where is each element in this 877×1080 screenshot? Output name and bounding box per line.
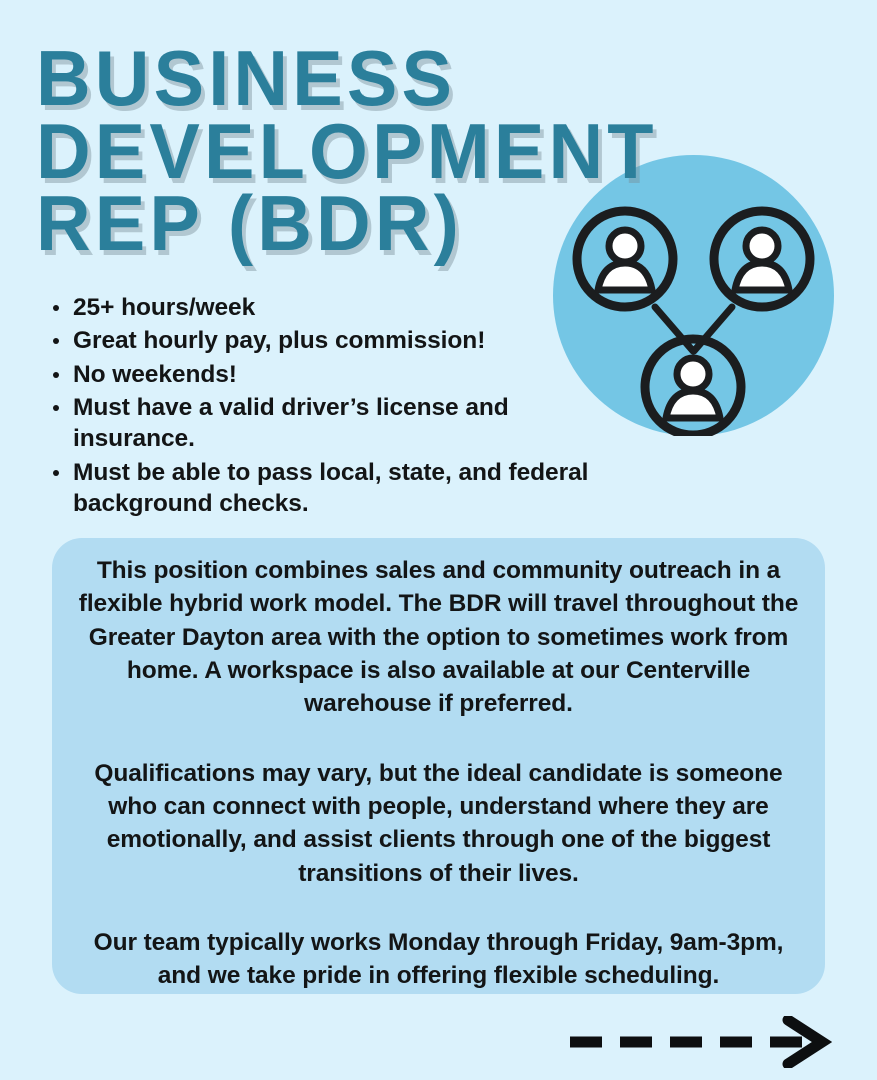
title-line-1: Business: [36, 42, 715, 115]
job-posting-poster: Business Development Rep (BDR) 25+ hours…: [0, 0, 877, 1080]
job-highlights-list: 25+ hours/week Great hourly pay, plus co…: [47, 292, 627, 522]
list-item: 25+ hours/week: [47, 292, 627, 323]
description-paragraph-1: This position combines sales and communi…: [74, 554, 803, 721]
title-line-2: Development: [36, 115, 715, 188]
list-item: Must have a valid driver’s license and i…: [47, 392, 627, 455]
list-item: Must be able to pass local, state, and f…: [47, 457, 627, 520]
dashed-arrow-right-icon: [566, 1016, 832, 1068]
list-item: Great hourly pay, plus commission!: [47, 325, 627, 356]
job-description-panel: This position combines sales and communi…: [52, 538, 825, 994]
list-item: No weekends!: [47, 359, 627, 390]
description-paragraph-2: Qualifications may vary, but the ideal c…: [74, 757, 803, 890]
description-paragraph-3: Our team typically works Monday through …: [74, 926, 803, 993]
page-title: Business Development Rep (BDR): [36, 42, 736, 260]
title-line-3: Rep (BDR): [36, 187, 715, 260]
